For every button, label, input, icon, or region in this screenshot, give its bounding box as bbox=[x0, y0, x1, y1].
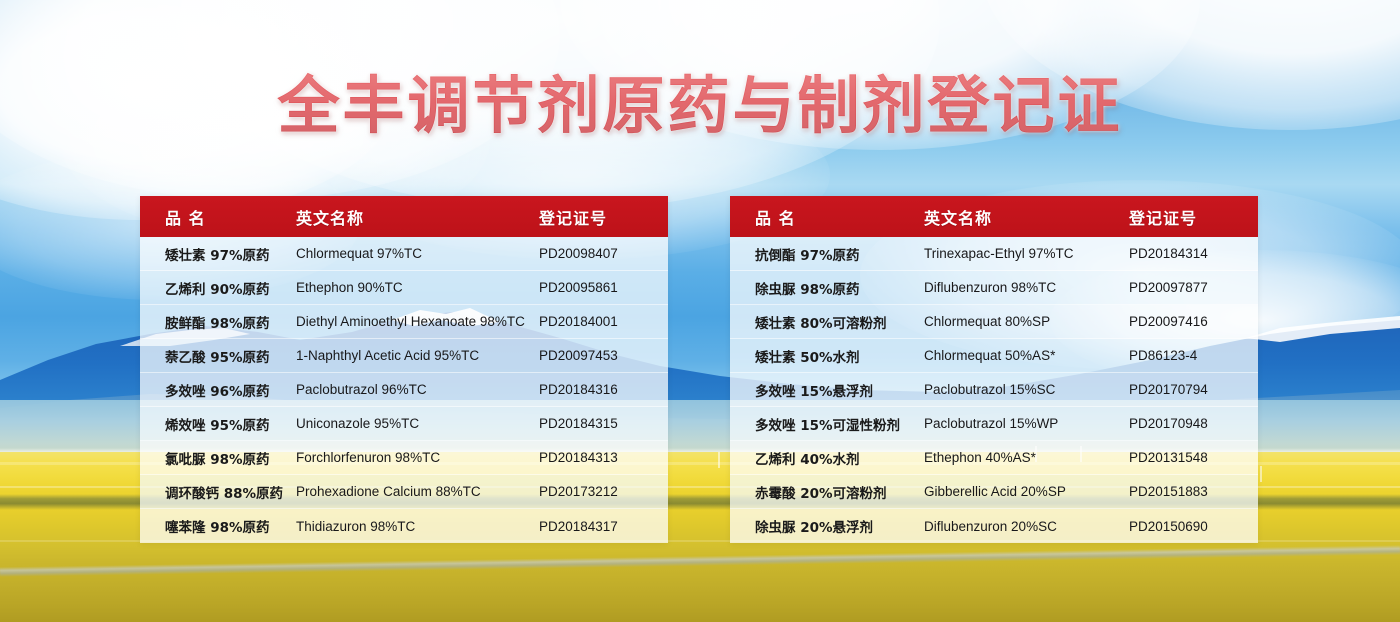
table-row: 除虫脲 20%悬浮剂 Diflubenzuron 20%SC PD2015069… bbox=[730, 509, 1258, 543]
cell-english-name: Chlormequat 50%AS* bbox=[916, 348, 1121, 363]
cell-registration-number: PD20184001 bbox=[531, 314, 668, 329]
column-header-registration-number: 登记证号 bbox=[531, 205, 668, 229]
cell-product-name: 多效唑 15%可湿性粉剂 bbox=[730, 414, 916, 434]
cell-product-name: 抗倒酯 97%原药 bbox=[730, 244, 916, 264]
table-row: 多效唑 15%可湿性粉剂 Paclobutrazol 15%WP PD20170… bbox=[730, 407, 1258, 441]
column-header-registration-number: 登记证号 bbox=[1121, 205, 1258, 229]
table-header-row: 品 名 英文名称 登记证号 bbox=[730, 196, 1258, 237]
cell-registration-number: PD20170794 bbox=[1121, 382, 1258, 397]
cell-english-name: Paclobutrazol 15%SC bbox=[916, 382, 1121, 397]
cell-registration-number: PD20170948 bbox=[1121, 416, 1258, 431]
cell-registration-number: PD20150690 bbox=[1121, 519, 1258, 534]
cell-english-name: Trinexapac-Ethyl 97%TC bbox=[916, 246, 1121, 261]
cell-english-name: Diflubenzuron 98%TC bbox=[916, 280, 1121, 295]
column-header-product-name: 品 名 bbox=[730, 205, 916, 229]
table-row: 抗倒酯 97%原药 Trinexapac-Ethyl 97%TC PD20184… bbox=[730, 237, 1258, 271]
cell-registration-number: PD20184313 bbox=[531, 450, 668, 465]
table-row: 乙烯利 40%水剂 Ethephon 40%AS* PD20131548 bbox=[730, 441, 1258, 475]
cell-registration-number: PD20184317 bbox=[531, 519, 668, 534]
power-pylon bbox=[1260, 466, 1262, 482]
table-row: 矮壮素 97%原药 Chlormequat 97%TC PD20098407 bbox=[140, 237, 668, 271]
cell-product-name: 乙烯利 90%原药 bbox=[140, 278, 288, 298]
cell-english-name: Paclobutrazol 15%WP bbox=[916, 416, 1121, 431]
cell-registration-number: PD20184314 bbox=[1121, 246, 1258, 261]
cell-english-name: Ethephon 40%AS* bbox=[916, 450, 1121, 465]
cell-product-name: 乙烯利 40%水剂 bbox=[730, 448, 916, 468]
cell-registration-number: PD20097416 bbox=[1121, 314, 1258, 329]
table-row: 除虫脲 98%原药 Diflubenzuron 98%TC PD20097877 bbox=[730, 271, 1258, 305]
cell-product-name: 除虫脲 98%原药 bbox=[730, 278, 916, 298]
cell-english-name: Uniconazole 95%TC bbox=[288, 416, 531, 431]
table-row: 乙烯利 90%原药 Ethephon 90%TC PD20095861 bbox=[140, 271, 668, 305]
table-row: 烯效唑 95%原药 Uniconazole 95%TC PD20184315 bbox=[140, 407, 668, 441]
cell-registration-number: PD20184316 bbox=[531, 382, 668, 397]
registration-table-right: 品 名 英文名称 登记证号 抗倒酯 97%原药 Trinexapac-Ethyl… bbox=[730, 196, 1258, 543]
table-row: 胺鲜酯 98%原药 Diethyl Aminoethyl Hexanoate 9… bbox=[140, 305, 668, 339]
table-header-row: 品 名 英文名称 登记证号 bbox=[140, 196, 668, 237]
cell-product-name: 除虫脲 20%悬浮剂 bbox=[730, 516, 916, 536]
registration-table-left: 品 名 英文名称 登记证号 矮壮素 97%原药 Chlormequat 97%T… bbox=[140, 196, 668, 543]
table-row: 多效唑 96%原药 Paclobutrazol 96%TC PD20184316 bbox=[140, 373, 668, 407]
cell-registration-number: PD20151883 bbox=[1121, 484, 1258, 499]
cell-english-name: Diethyl Aminoethyl Hexanoate 98%TC bbox=[288, 314, 531, 329]
cell-registration-number: PD20097877 bbox=[1121, 280, 1258, 295]
table-row: 噻苯隆 98%原药 Thidiazuron 98%TC PD20184317 bbox=[140, 509, 668, 543]
poster-canvas: 全丰调节剂原药与制剂登记证 品 名 英文名称 登记证号 矮壮素 97%原药 Ch… bbox=[0, 0, 1400, 622]
cell-registration-number: PD20098407 bbox=[531, 246, 668, 261]
cell-product-name: 矮壮素 97%原药 bbox=[140, 244, 288, 264]
cell-product-name: 多效唑 15%悬浮剂 bbox=[730, 380, 916, 400]
cell-english-name: Prohexadione Calcium 88%TC bbox=[288, 484, 531, 499]
page-title: 全丰调节剂原药与制剂登记证 bbox=[0, 70, 1400, 142]
cell-product-name: 氯吡脲 98%原药 bbox=[140, 448, 288, 468]
cell-product-name: 胺鲜酯 98%原药 bbox=[140, 312, 288, 332]
table-row: 赤霉酸 20%可溶粉剂 Gibberellic Acid 20%SP PD201… bbox=[730, 475, 1258, 509]
column-header-english-name: 英文名称 bbox=[916, 205, 1121, 229]
cell-product-name: 烯效唑 95%原药 bbox=[140, 414, 288, 434]
table-row: 矮壮素 80%可溶粉剂 Chlormequat 80%SP PD20097416 bbox=[730, 305, 1258, 339]
cell-product-name: 调环酸钙 88%原药 bbox=[140, 482, 288, 502]
cell-registration-number: PD20097453 bbox=[531, 348, 668, 363]
table-row: 氯吡脲 98%原药 Forchlorfenuron 98%TC PD201843… bbox=[140, 441, 668, 475]
column-header-english-name: 英文名称 bbox=[288, 205, 531, 229]
table-row: 调环酸钙 88%原药 Prohexadione Calcium 88%TC PD… bbox=[140, 475, 668, 509]
cell-product-name: 矮壮素 50%水剂 bbox=[730, 346, 916, 366]
cell-registration-number: PD20131548 bbox=[1121, 450, 1258, 465]
cell-english-name: Diflubenzuron 20%SC bbox=[916, 519, 1121, 534]
cell-registration-number: PD20095861 bbox=[531, 280, 668, 295]
cell-registration-number: PD20173212 bbox=[531, 484, 668, 499]
table-row: 矮壮素 50%水剂 Chlormequat 50%AS* PD86123-4 bbox=[730, 339, 1258, 373]
cell-product-name: 噻苯隆 98%原药 bbox=[140, 516, 288, 536]
cell-registration-number: PD20184315 bbox=[531, 416, 668, 431]
cell-registration-number: PD86123-4 bbox=[1121, 348, 1258, 363]
cell-english-name: Forchlorfenuron 98%TC bbox=[288, 450, 531, 465]
cell-english-name: Chlormequat 97%TC bbox=[288, 246, 531, 261]
cell-english-name: Thidiazuron 98%TC bbox=[288, 519, 531, 534]
column-header-product-name: 品 名 bbox=[140, 205, 288, 229]
table-row: 萘乙酸 95%原药 1-Naphthyl Acetic Acid 95%TC P… bbox=[140, 339, 668, 373]
cell-product-name: 萘乙酸 95%原药 bbox=[140, 346, 288, 366]
cell-english-name: Chlormequat 80%SP bbox=[916, 314, 1121, 329]
cell-english-name: Paclobutrazol 96%TC bbox=[288, 382, 531, 397]
cell-product-name: 多效唑 96%原药 bbox=[140, 380, 288, 400]
cell-product-name: 矮壮素 80%可溶粉剂 bbox=[730, 312, 916, 332]
cell-english-name: Gibberellic Acid 20%SP bbox=[916, 484, 1121, 499]
table-row: 多效唑 15%悬浮剂 Paclobutrazol 15%SC PD2017079… bbox=[730, 373, 1258, 407]
cell-product-name: 赤霉酸 20%可溶粉剂 bbox=[730, 482, 916, 502]
cell-english-name: 1-Naphthyl Acetic Acid 95%TC bbox=[288, 348, 531, 363]
cell-english-name: Ethephon 90%TC bbox=[288, 280, 531, 295]
power-pylon bbox=[718, 452, 720, 468]
